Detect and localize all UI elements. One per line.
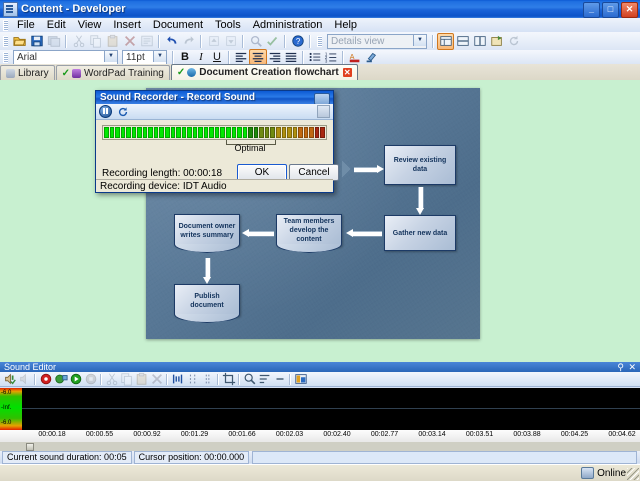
check-icon: ✓ <box>177 67 185 78</box>
vu-segment <box>232 127 237 138</box>
vu-segment <box>243 127 248 138</box>
level-icon[interactable] <box>257 373 272 386</box>
arrow-gather-to-team <box>346 229 382 236</box>
application-status-bar: Online <box>0 464 640 481</box>
menu-item-edit[interactable]: Edit <box>41 18 72 32</box>
maximize-button[interactable]: □ <box>602 2 619 18</box>
ruler-tick: 00:04.25 <box>561 431 588 438</box>
arrow-review-to-gather <box>416 187 423 215</box>
check-icon: ✓ <box>62 68 70 79</box>
toolbar-separator <box>302 51 304 64</box>
document-tab-strip: Library ✓ WordPad Training ✓ Document Cr… <box>0 64 640 81</box>
save-all-icon <box>45 33 62 49</box>
status-badge: Online <box>581 467 626 479</box>
toolbar-separator <box>242 35 244 48</box>
toolbar-grip-2[interactable] <box>317 36 322 47</box>
vu-segment <box>287 127 292 138</box>
vu-segment <box>220 127 225 138</box>
move-down-icon <box>222 33 239 49</box>
toolbar-separator <box>284 35 286 48</box>
ruler-tick: 00:02.40 <box>323 431 350 438</box>
vu-segment <box>193 127 198 138</box>
vu-segment <box>270 127 275 138</box>
vu-segment <box>159 127 164 138</box>
help-icon[interactable]: ? <box>289 33 306 49</box>
vu-segment <box>254 127 259 138</box>
delete-icon <box>121 33 138 49</box>
font-name-combo[interactable]: Arial ▼ <box>13 50 118 65</box>
svg-text:?: ? <box>295 37 300 46</box>
menu-bar: File Edit View Insert Document Tools Adm… <box>0 18 640 33</box>
resize-grip-icon[interactable] <box>627 468 639 480</box>
save-icon[interactable] <box>28 33 45 49</box>
menu-item-help[interactable]: Help <box>328 18 363 32</box>
properties-icon <box>138 33 155 49</box>
font-name-value: Arial <box>17 52 37 63</box>
node-document-owner-writes-summary[interactable]: Document owner writes summary <box>174 214 240 247</box>
node-team-members-develop-content[interactable]: Team members develop the content <box>276 214 342 247</box>
status-sound-duration: Current sound duration: 00:05 <box>2 451 132 464</box>
vu-segment <box>115 127 120 138</box>
vu-segment <box>237 127 242 138</box>
tab-wordpad-training[interactable]: ✓ WordPad Training <box>56 65 170 80</box>
app-document-icon <box>3 2 18 17</box>
preview-icon[interactable] <box>488 33 505 49</box>
vu-segment <box>171 127 176 138</box>
title-bar: Content - Developer _ □ ✕ <box>0 0 640 18</box>
arrow-team-to-owner <box>242 229 274 236</box>
toolbar-separator <box>158 35 160 48</box>
maximize-icon: □ <box>603 3 618 16</box>
arrow-owner-to-publish <box>203 258 210 284</box>
tab-library[interactable]: Library <box>0 65 55 80</box>
vu-segment <box>143 127 148 138</box>
waveform-channel-right <box>22 409 640 430</box>
toolbar-separator <box>100 374 102 385</box>
vu-segment <box>187 127 192 138</box>
menu-item-tools[interactable]: Tools <box>209 18 247 32</box>
sound-editor-title: Sound Editor <box>4 362 56 372</box>
font-color-icon[interactable]: A <box>347 50 363 64</box>
chevron-down-icon[interactable]: ▼ <box>153 51 166 62</box>
window-frame: Content - Developer _ □ ✕ File Edit View… <box>0 0 640 480</box>
vu-meter <box>102 125 327 140</box>
view-mode-combo[interactable]: Details view ▼ <box>327 34 427 49</box>
toolbar-separator <box>200 35 202 48</box>
node-review-existing-data[interactable]: Review existing data <box>384 145 456 185</box>
ruler-tick: 00:01.66 <box>228 431 255 438</box>
resize-grip-icon <box>317 105 330 118</box>
toolbar-separator <box>228 51 230 64</box>
close-button[interactable]: ✕ <box>621 2 638 18</box>
paste-icon <box>134 373 149 386</box>
menu-item-view[interactable]: View <box>72 18 108 32</box>
open-folder-icon[interactable] <box>11 33 28 49</box>
menu-item-file[interactable]: File <box>11 18 41 32</box>
chevron-down-icon[interactable]: ▼ <box>104 51 117 62</box>
node-gather-new-data[interactable]: Gather new data <box>384 215 456 251</box>
main-toolbar: ? Details view ▼ <box>0 32 640 51</box>
vu-segment <box>293 127 298 138</box>
status-filler <box>252 451 637 464</box>
minimize-icon: _ <box>584 3 599 16</box>
ruler-tick: 00:03.14 <box>418 431 445 438</box>
stop-icon <box>83 373 98 386</box>
tab-label: WordPad Training <box>84 68 164 79</box>
cut-icon <box>104 373 119 386</box>
close-icon[interactable]: ✕ <box>628 362 636 372</box>
sound-editor-status-bar: Current sound duration: 00:05 Cursor pos… <box>0 451 640 463</box>
toolbar-separator <box>309 35 311 48</box>
ruler-tick: 00:04.62 <box>608 431 635 438</box>
underline-button[interactable]: U <box>209 50 225 64</box>
menu-item-administration[interactable]: Administration <box>247 18 329 32</box>
align-justify-icon[interactable] <box>283 50 299 64</box>
play-icon[interactable] <box>68 373 83 386</box>
cut-icon <box>70 33 87 49</box>
font-size-combo[interactable]: 11pt ▼ <box>122 50 167 65</box>
copy-icon <box>87 33 104 49</box>
bold-button[interactable]: B <box>177 50 193 64</box>
toolbar-separator <box>34 374 36 385</box>
bullet-list-icon[interactable] <box>307 50 323 64</box>
arrow-start-to-review <box>354 165 384 172</box>
delete-icon <box>149 373 164 386</box>
recording-length-label: Recording length: 00:00:18 <box>102 168 222 179</box>
node-publish-document[interactable]: Publish document <box>174 284 240 317</box>
record-icon[interactable] <box>38 373 53 386</box>
toolbar-separator <box>65 35 67 48</box>
toolbar-grip[interactable] <box>3 36 8 47</box>
ruler-tick: 00:02.77 <box>371 431 398 438</box>
ruler-tick: 00:02.03 <box>276 431 303 438</box>
status-cursor-position: Cursor position: 00:00.000 <box>134 451 250 464</box>
dialog-toolbar <box>96 104 333 120</box>
vu-segment <box>198 127 203 138</box>
marker2-icon[interactable] <box>200 373 215 386</box>
vu-segment <box>282 127 287 138</box>
font-size-value: 11pt <box>126 52 145 63</box>
optimal-label: Optimal <box>226 143 274 153</box>
db-scale: -6.0 -Inf. -6.0 <box>0 388 23 430</box>
redo-icon <box>180 33 197 49</box>
ruler-tick: 00:00.92 <box>133 431 160 438</box>
restart-icon[interactable] <box>117 106 129 118</box>
formatting-toolbar: Arial ▼ 11pt ▼ B I U 123 <box>0 50 640 65</box>
highlight-icon[interactable] <box>363 50 379 64</box>
vu-segment <box>298 127 303 138</box>
ruler-tick: 00:01.29 <box>181 431 208 438</box>
record-append-icon[interactable] <box>53 373 68 386</box>
properties-icon[interactable] <box>293 373 308 386</box>
tab-close-icon[interactable]: ✕ <box>343 68 352 77</box>
vu-segment <box>309 127 314 138</box>
split-horizontal-icon[interactable] <box>454 33 471 49</box>
toolbar-separator <box>166 374 168 385</box>
ruler-tick: 00:03.88 <box>513 431 540 438</box>
paste-icon <box>104 33 121 49</box>
toolbar-separator <box>217 374 219 385</box>
spellcheck-icon <box>264 33 281 49</box>
format-toolbar-grip[interactable] <box>3 52 8 63</box>
vu-segment <box>204 127 209 138</box>
vu-segment <box>215 127 220 138</box>
waveform-display[interactable]: -6.0 -Inf. -6.0 <box>0 388 640 430</box>
ruler-tick: 00:00.18 <box>38 431 65 438</box>
minus-icon[interactable] <box>272 373 287 386</box>
vu-segment <box>182 127 187 138</box>
waveform-channel-left <box>22 388 640 409</box>
ruler-tick: 00:03.51 <box>466 431 493 438</box>
tab-document-creation-flowchart[interactable]: ✓ Document Creation flowchart ✕ <box>171 64 358 80</box>
vu-segment <box>148 127 153 138</box>
toolbar-separator <box>432 35 434 48</box>
vu-segment <box>226 127 231 138</box>
library-icon <box>6 69 15 78</box>
copy-icon <box>119 373 134 386</box>
zoom-icon[interactable] <box>242 373 257 386</box>
details-view-icon[interactable] <box>437 33 454 50</box>
mix-icon[interactable] <box>170 373 185 386</box>
find-icon <box>247 33 264 49</box>
sound-editor-toolbar <box>0 372 640 387</box>
pin-icon[interactable]: ⚲ <box>617 362 624 372</box>
align-right-icon[interactable] <box>267 50 283 64</box>
start-connector-icon <box>342 160 351 178</box>
vu-segment <box>154 127 159 138</box>
italic-button[interactable]: I <box>193 50 209 64</box>
toolbar-separator <box>172 51 174 64</box>
vu-segment <box>110 127 115 138</box>
vu-segment <box>121 127 126 138</box>
application-window: Content - Developer _ □ ✕ File Edit View… <box>0 0 640 480</box>
align-left-icon[interactable] <box>233 50 249 64</box>
dialog-title: Sound Recorder - Record Sound <box>100 92 255 103</box>
vu-segment <box>315 127 320 138</box>
vu-segment <box>137 127 142 138</box>
online-label: Online <box>597 468 626 479</box>
insert-sound-disabled-icon <box>17 373 32 386</box>
vu-segment <box>132 127 137 138</box>
numbered-list-icon[interactable]: 123 <box>323 50 339 64</box>
close-icon: ✕ <box>622 3 637 16</box>
vu-segment <box>304 127 309 138</box>
vu-segment <box>259 127 264 138</box>
crop-icon[interactable] <box>221 373 236 386</box>
refresh-icon <box>505 33 522 49</box>
tab-label: Library <box>18 68 49 79</box>
vu-segment <box>276 127 281 138</box>
wordpad-icon <box>72 69 81 78</box>
insert-sound-icon[interactable] <box>2 373 17 386</box>
sound-recorder-dialog[interactable]: Sound Recorder - Record Sound Optimal Re… <box>95 90 334 193</box>
ruler-tick: 00:00.55 <box>86 431 113 438</box>
vu-segment <box>265 127 270 138</box>
dialog-title-bar: Sound Recorder - Record Sound <box>96 91 333 104</box>
minimize-button[interactable]: _ <box>583 2 600 18</box>
vu-segment <box>165 127 170 138</box>
vu-segment <box>248 127 253 138</box>
chevron-down-icon[interactable]: ▼ <box>413 35 426 46</box>
vu-segment <box>126 127 131 138</box>
vu-segment <box>104 127 109 138</box>
network-icon <box>581 467 594 479</box>
svg-text:3: 3 <box>325 58 328 63</box>
db-label-bottom: -6.0 <box>1 420 11 426</box>
window-controls: _ □ ✕ <box>583 2 638 18</box>
menu-grip[interactable] <box>3 20 8 31</box>
recording-device-label: Recording device: IDT Audio <box>96 179 333 192</box>
align-center-icon[interactable] <box>249 49 267 65</box>
undo-icon[interactable] <box>163 33 180 49</box>
sound-editor-panel: Sound Editor ⚲ ✕ <box>0 362 640 464</box>
optimal-range-indicator: Optimal <box>102 140 327 152</box>
toolbar-separator <box>238 374 240 385</box>
globe-icon <box>187 68 196 77</box>
vu-segment <box>209 127 214 138</box>
db-label-top: -6.0 <box>1 390 11 396</box>
split-vertical-icon[interactable] <box>471 33 488 49</box>
vu-segment <box>320 127 325 138</box>
window-title: Content - Developer <box>21 3 126 15</box>
toolbar-separator <box>342 51 344 64</box>
tab-label: Document Creation flowchart <box>199 67 338 78</box>
vu-segment <box>176 127 181 138</box>
toolbar-separator <box>289 374 291 385</box>
move-up-icon <box>205 33 222 49</box>
pause-record-icon[interactable] <box>99 105 112 118</box>
menu-item-document[interactable]: Document <box>147 18 209 32</box>
marker1-icon[interactable] <box>185 373 200 386</box>
menu-item-insert[interactable]: Insert <box>107 18 147 32</box>
view-mode-value: Details view <box>331 36 384 47</box>
db-label-mid: -Inf. <box>1 405 11 411</box>
sound-editor-title-bar: Sound Editor ⚲ ✕ <box>0 362 640 372</box>
